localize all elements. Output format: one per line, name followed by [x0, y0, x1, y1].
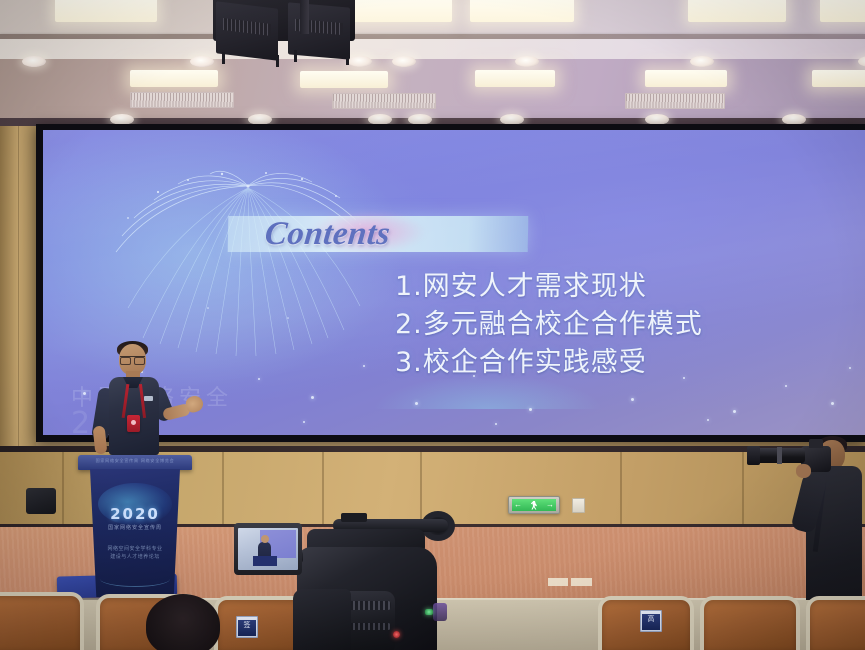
projector-leg — [276, 55, 279, 67]
wall-outlet — [572, 498, 585, 513]
running-man-icon — [531, 501, 538, 510]
audience-member-head — [146, 594, 220, 650]
ceiling-mid-band — [0, 39, 865, 59]
podium-forum-line2: 建设与人才培养论坛 — [90, 553, 180, 561]
badge-emblem-icon — [131, 420, 136, 425]
foreground-camcorder — [245, 505, 485, 650]
ceiling-panel-light — [55, 0, 157, 22]
slide-agenda-list: 1.网安人才需求现状 2.多元融合校企合作模式 3.校企合作实践感受 — [395, 268, 855, 382]
auditorium-seat[interactable] — [0, 592, 84, 650]
projector-vent-grill — [223, 18, 271, 36]
ceiling-panel-light — [645, 70, 727, 87]
ceiling-panel-light — [812, 70, 865, 87]
slide-banner-title: Contents — [263, 216, 392, 253]
stage-floor-monitor — [26, 488, 56, 514]
dslr-viewfinder-prism — [809, 439, 823, 448]
podium-event-name: 国家网络安全宣传周 — [90, 524, 180, 531]
dslr-focus-ring — [777, 447, 782, 464]
podium-front-panel: 2020 国家网络安全宣传周 网络空间安全学科专业 建设与人才培养论坛 — [90, 469, 180, 597]
slide-agenda-item-1: 1.网安人才需求现状 — [395, 268, 855, 306]
exit-arrow-left-icon: ← — [514, 501, 522, 509]
ceiling-panel-light — [688, 0, 786, 22]
camcorder-hand-grip — [293, 589, 351, 650]
projector-panel-left — [216, 1, 278, 61]
speaker-shirt-logo — [144, 396, 153, 401]
ceiling-panel-light — [820, 0, 865, 22]
wall-panel-seam — [222, 452, 224, 530]
glasses-icon — [120, 356, 145, 362]
wall-panel-seam — [620, 452, 622, 530]
ceiling-downlight — [22, 56, 46, 67]
photographer — [795, 424, 865, 624]
ceiling-downlight — [690, 56, 714, 67]
projector-mount-stem — [300, 0, 309, 34]
podium-forum-line1: 网络空间安全学科专业 — [90, 545, 180, 553]
placard-label: 高 — [641, 614, 661, 624]
ceiling-downlight — [392, 56, 416, 67]
ceiling-panel-light — [475, 70, 555, 87]
auditorium-seat[interactable] — [806, 596, 865, 650]
podium-swoosh-graphic — [100, 571, 170, 587]
camcorder-lcd-screen — [238, 528, 298, 570]
camcorder-record-led — [393, 631, 400, 638]
exit-arrow-right-icon: → — [546, 501, 554, 509]
dslr-lens-hood — [747, 446, 760, 465]
ceiling-air-vent — [625, 93, 725, 109]
ceiling-downlight — [348, 56, 372, 67]
ceiling-panel-light — [300, 71, 388, 88]
camcorder-lcd-panel[interactable] — [234, 523, 302, 575]
ceiling-downlight — [515, 56, 539, 67]
projector-leg — [294, 50, 297, 62]
ceiling — [0, 0, 865, 128]
podium: 国家网络安全宣传周 网络安全博览会 2020 国家网络安全宣传周 网络空间安全学… — [84, 455, 186, 600]
ceiling-air-vent — [130, 92, 234, 108]
wall-seam — [18, 126, 19, 456]
wall-panel-seam — [62, 452, 64, 530]
ceiling-panel-light — [350, 0, 452, 22]
camcorder-power-led — [425, 609, 433, 615]
projector-panel-right — [288, 2, 350, 59]
slide-agenda-item-2: 2.多元融合校企合作模式 — [395, 306, 855, 344]
lcd-preview-podium — [253, 556, 277, 566]
ceiling-panel-light — [130, 70, 218, 87]
conference-photo-scene: Contents 1.网安人才需求现状 2.多元融合校企合作模式 3.校企合作实… — [0, 0, 865, 650]
exit-sign: ← → — [508, 496, 560, 514]
camcorder-side-accent — [433, 603, 447, 621]
wall-panel-seam — [742, 452, 744, 530]
projector-leg — [346, 53, 349, 65]
podium-year: 2020 — [90, 505, 180, 523]
speaker-presenter — [92, 344, 210, 464]
projector-leg — [222, 52, 225, 64]
ceiling-air-vent — [332, 93, 436, 109]
ceiling-downlight — [190, 56, 214, 67]
slide-agenda-item-3: 3.校企合作实践感受 — [395, 344, 855, 382]
stage-floor-marking — [548, 578, 592, 586]
seat-placard: 高 — [640, 610, 662, 632]
auditorium-seat[interactable] — [700, 596, 800, 650]
ceiling-panel-light — [470, 0, 574, 22]
photographer-hand — [796, 464, 811, 478]
camcorder-hotshoe — [341, 513, 367, 522]
exit-sign-graphic: ← → — [512, 499, 556, 511]
